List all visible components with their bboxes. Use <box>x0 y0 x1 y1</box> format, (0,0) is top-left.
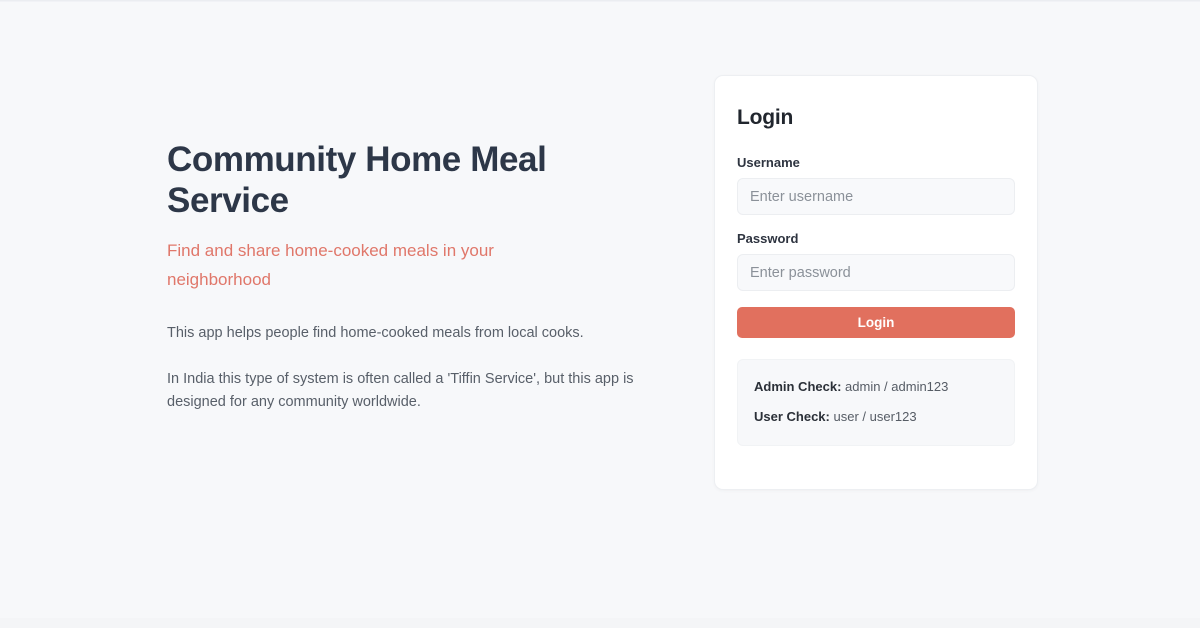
hint-value-user: user / user123 <box>834 409 917 424</box>
password-label: Password <box>737 231 1015 246</box>
hero-paragraph-2: In India this type of system is often ca… <box>167 368 667 415</box>
credentials-hint-box: Admin Check: admin / admin123 User Check… <box>737 359 1015 446</box>
hint-label-user: User Check: <box>754 409 830 424</box>
login-page: Community Home Meal Service Find and sha… <box>0 0 1200 628</box>
hero-section: Community Home Meal Service Find and sha… <box>167 140 672 415</box>
hint-row-admin: Admin Check: admin / admin123 <box>754 377 998 397</box>
hint-row-user: User Check: user / user123 <box>754 407 998 427</box>
username-input[interactable] <box>737 178 1015 215</box>
hero-subtitle: Find and share home-cooked meals in your… <box>167 236 562 294</box>
hero-paragraph-1: This app helps people find home-cooked m… <box>167 322 667 345</box>
username-field-group: Username <box>737 155 1015 215</box>
hint-label-admin: Admin Check: <box>754 379 841 394</box>
login-card: Login Username Password Login Admin Chec… <box>714 75 1038 490</box>
password-input[interactable] <box>737 254 1015 291</box>
top-edge-divider <box>0 0 1200 2</box>
username-label: Username <box>737 155 1015 170</box>
password-field-group: Password <box>737 231 1015 291</box>
login-card-title: Login <box>737 106 1015 130</box>
bottom-edge-divider <box>0 618 1200 628</box>
hint-value-admin: admin / admin123 <box>845 379 948 394</box>
page-title: Community Home Meal Service <box>167 140 672 222</box>
login-submit-button[interactable]: Login <box>737 307 1015 338</box>
